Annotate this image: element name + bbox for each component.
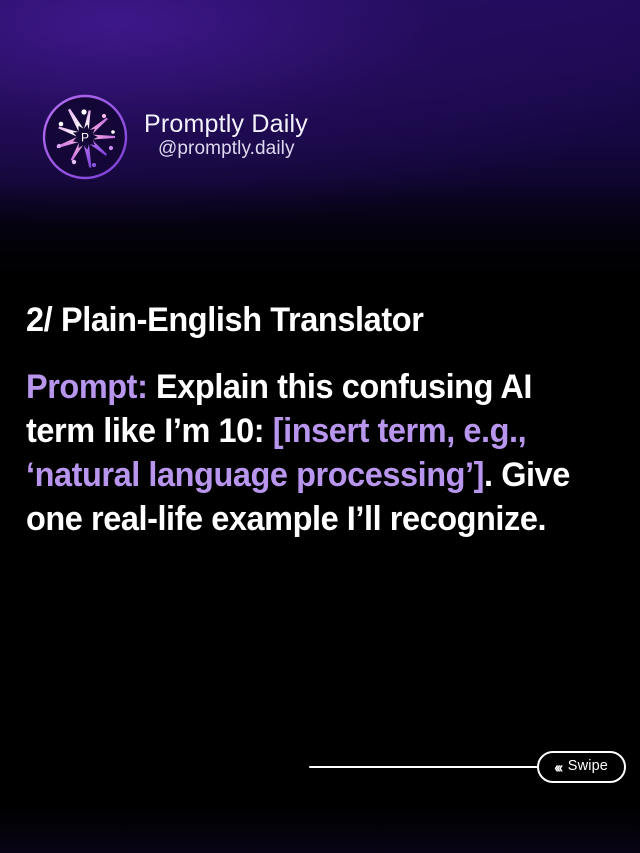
starburst-badge-icon: P: [40, 92, 130, 182]
swipe-button-label: Swipe: [568, 759, 608, 774]
swipe-rule-line: [309, 766, 547, 768]
chevron-left-triple-icon: ‹‹‹: [554, 759, 561, 774]
swipe-button[interactable]: ‹‹‹ Swipe: [537, 751, 626, 783]
story-slide: P Promptly Daily @promptly.daily 2/ Plai…: [0, 0, 640, 853]
brand-text-block: Promptly Daily @promptly.daily: [144, 110, 308, 160]
prompt-label: Prompt:: [26, 368, 147, 406]
swipe-footer: ‹‹‹ Swipe: [0, 747, 640, 787]
page-title: 2/ Plain-English Translator: [26, 301, 588, 339]
bottom-tint-overlay: [0, 805, 640, 853]
prompt-body: Prompt: Explain this confusing AI term l…: [26, 366, 588, 541]
slide-content: 2/ Plain-English Translator Prompt: Expl…: [0, 292, 640, 542]
logo-letter: P: [81, 131, 89, 145]
brand-name: Promptly Daily: [144, 110, 308, 138]
brand-row[interactable]: P Promptly Daily @promptly.daily: [40, 92, 308, 182]
brand-handle: @promptly.daily: [158, 138, 308, 160]
